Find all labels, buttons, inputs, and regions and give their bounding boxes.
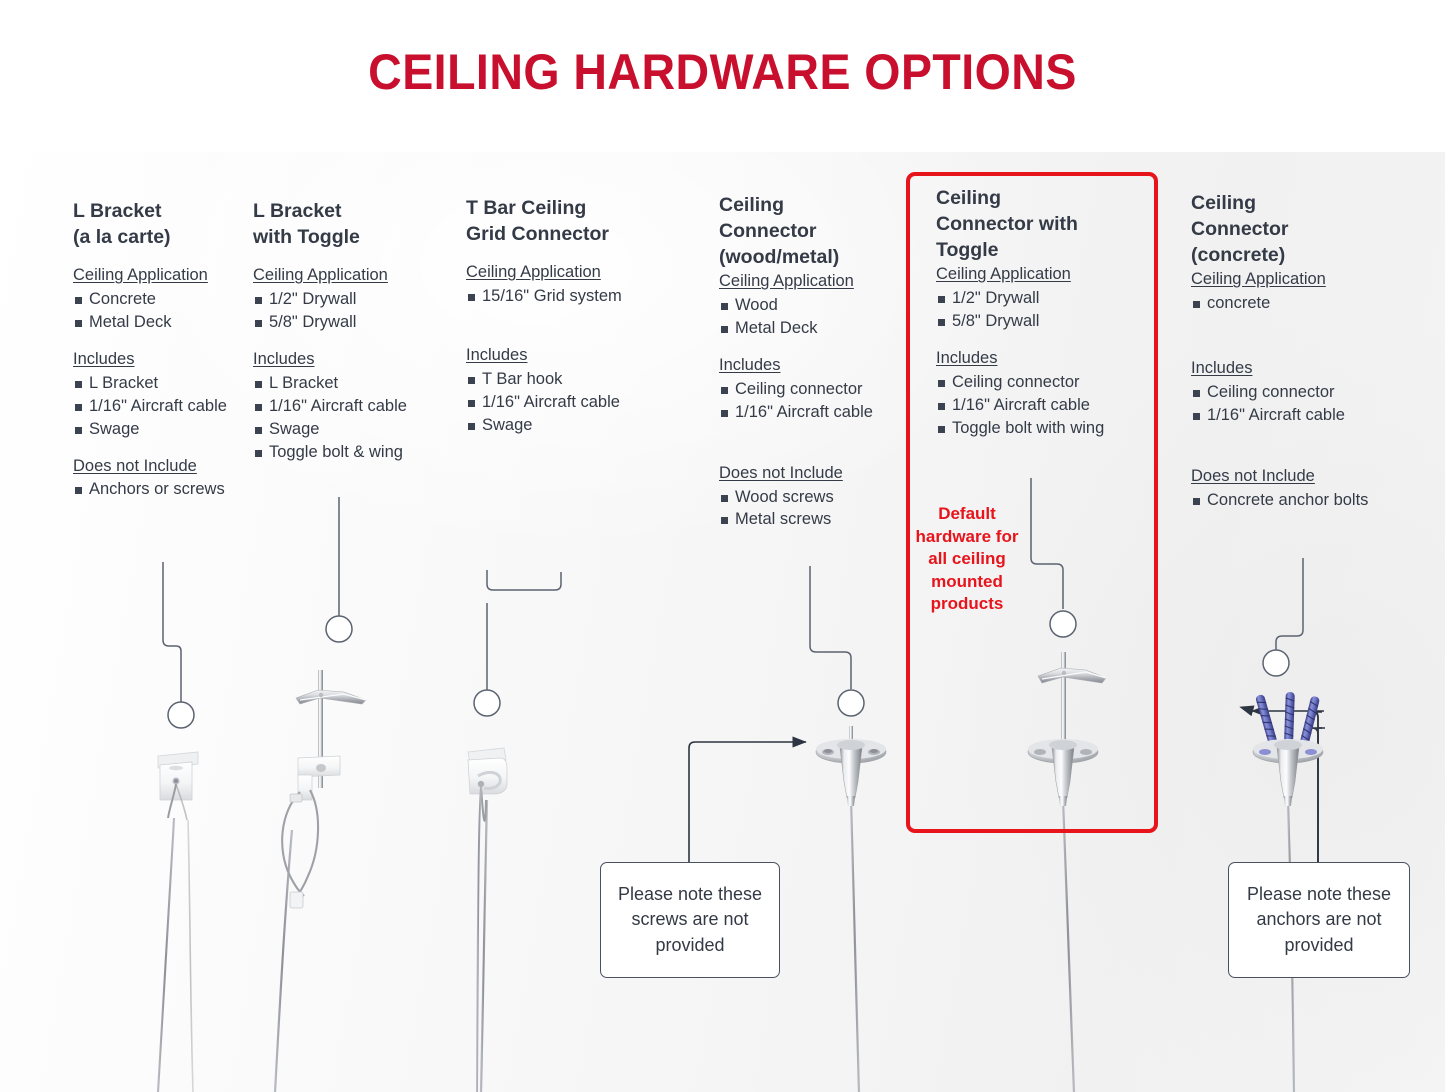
list-item: Toggle bolt & wing — [253, 442, 443, 464]
item-list: Ceiling connector 1/16" Aircraft cable — [1191, 382, 1381, 427]
ceiling-hardware-options-page: CEILING HARDWARE OPTIONS — [0, 0, 1445, 1092]
item-list: Concrete anchor bolts — [1191, 490, 1381, 512]
list-item: Concrete — [73, 289, 258, 311]
column-l-bracket-a-la-carte: L Bracket (a la carte) Ceiling Applicati… — [73, 198, 258, 502]
section-heading: Ceiling Application — [936, 265, 1126, 285]
list-item: Ceiling connector — [719, 379, 904, 401]
list-item: Toggle bolt with wing — [936, 418, 1126, 440]
column-title: L Bracket (a la carte) — [73, 198, 258, 250]
list-item: Metal Deck — [719, 318, 904, 340]
section-does-not-include: Does not Include Anchors or screws — [73, 457, 258, 502]
section-ceiling-application: Ceiling Application 1/2" Drywall 5/8" Dr… — [253, 266, 443, 334]
section-heading: Includes — [253, 350, 443, 370]
section-heading: Includes — [1191, 359, 1381, 379]
item-list: concrete — [1191, 293, 1381, 315]
list-item: Metal Deck — [73, 312, 258, 334]
section-heading: Does not Include — [73, 457, 258, 477]
list-item: 1/16" Aircraft cable — [936, 395, 1126, 417]
section-includes: Includes T Bar hook 1/16" Aircraft cable… — [466, 346, 666, 437]
section-heading: Ceiling Application — [253, 266, 443, 286]
list-item: 5/8" Drywall — [253, 312, 443, 334]
list-item: Swage — [466, 415, 666, 437]
section-heading: Includes — [936, 349, 1126, 369]
list-item: 1/16" Aircraft cable — [73, 396, 258, 418]
list-item: Swage — [73, 419, 258, 441]
section-does-not-include: Does not Include Concrete anchor bolts — [1191, 467, 1381, 512]
column-title: Ceiling Connector (wood/metal) — [719, 192, 904, 270]
list-item: L Bracket — [253, 373, 443, 395]
column-title: L Bracket with Toggle — [253, 198, 443, 250]
section-ceiling-application: Ceiling Application concrete — [1191, 270, 1381, 315]
section-includes: Includes L Bracket 1/16" Aircraft cable … — [73, 350, 258, 441]
section-heading: Does not Include — [719, 464, 904, 484]
list-item: 1/16" Aircraft cable — [466, 392, 666, 414]
default-hardware-note: Default hardware for all ceiling mounted… — [915, 503, 1019, 616]
section-heading: Includes — [719, 356, 904, 376]
section-ceiling-application: Ceiling Application 15/16" Grid system — [466, 263, 666, 308]
section-includes: Includes Ceiling connector 1/16" Aircraf… — [719, 356, 904, 424]
section-ceiling-application: Ceiling Application 1/2" Drywall 5/8" Dr… — [936, 265, 1126, 333]
list-item: concrete — [1191, 293, 1381, 315]
callout-anchors-note: Please note these anchors are not provid… — [1228, 862, 1410, 978]
list-item: Metal screws — [719, 509, 904, 531]
list-item: 1/16" Aircraft cable — [1191, 405, 1381, 427]
list-item: T Bar hook — [466, 369, 666, 391]
item-list: Anchors or screws — [73, 479, 258, 501]
section-heading: Includes — [466, 346, 666, 366]
section-does-not-include: Does not Include Wood screws Metal screw… — [719, 464, 904, 532]
section-includes: Includes Ceiling connector 1/16" Aircraf… — [936, 349, 1126, 440]
column-ceiling-connector-with-toggle: Ceiling Connector with Toggle Ceiling Ap… — [936, 185, 1126, 441]
page-title: CEILING HARDWARE OPTIONS — [51, 43, 1395, 101]
list-item: Ceiling connector — [936, 372, 1126, 394]
callout-screws-note: Please note these screws are not provide… — [600, 862, 780, 978]
item-list: Ceiling connector 1/16" Aircraft cable — [719, 379, 904, 424]
item-list: L Bracket 1/16" Aircraft cable Swage Tog… — [253, 373, 443, 464]
item-list: Concrete Metal Deck — [73, 289, 258, 334]
column-ceiling-connector-concrete: Ceiling Connector (concrete) Ceiling App… — [1191, 190, 1381, 513]
list-item: Ceiling connector — [1191, 382, 1381, 404]
item-list: Ceiling connector 1/16" Aircraft cable T… — [936, 372, 1126, 440]
section-heading: Ceiling Application — [719, 272, 904, 292]
item-list: L Bracket 1/16" Aircraft cable Swage — [73, 373, 258, 441]
item-list: T Bar hook 1/16" Aircraft cable Swage — [466, 369, 666, 437]
list-item: Wood — [719, 295, 904, 317]
list-item: Wood screws — [719, 487, 904, 509]
list-item: Concrete anchor bolts — [1191, 490, 1381, 512]
item-list: Wood Metal Deck — [719, 295, 904, 340]
section-heading: Includes — [73, 350, 258, 370]
section-heading: Ceiling Application — [73, 266, 258, 286]
section-ceiling-application: Ceiling Application Concrete Metal Deck — [73, 266, 258, 334]
list-item: 1/16" Aircraft cable — [253, 396, 443, 418]
column-title: Ceiling Connector (concrete) — [1191, 190, 1381, 268]
column-ceiling-connector-wood-metal: Ceiling Connector (wood/metal) Ceiling A… — [719, 192, 904, 532]
section-heading: Ceiling Application — [466, 263, 666, 283]
column-l-bracket-with-toggle: L Bracket with Toggle Ceiling Applicatio… — [253, 198, 443, 464]
section-includes: Includes Ceiling connector 1/16" Aircraf… — [1191, 359, 1381, 427]
list-item: L Bracket — [73, 373, 258, 395]
item-list: 15/16" Grid system — [466, 286, 666, 308]
column-title: Ceiling Connector with Toggle — [936, 185, 1126, 263]
section-heading: Ceiling Application — [1191, 270, 1381, 290]
list-item: 1/2" Drywall — [253, 289, 443, 311]
section-heading: Does not Include — [1191, 467, 1381, 487]
list-item: 1/16" Aircraft cable — [719, 402, 904, 424]
item-list: 1/2" Drywall 5/8" Drywall — [936, 288, 1126, 333]
list-item: 1/2" Drywall — [936, 288, 1126, 310]
section-includes: Includes L Bracket 1/16" Aircraft cable … — [253, 350, 443, 464]
list-item: Swage — [253, 419, 443, 441]
item-list: Wood screws Metal screws — [719, 487, 904, 532]
list-item: 5/8" Drywall — [936, 311, 1126, 333]
list-item: Anchors or screws — [73, 479, 258, 501]
section-ceiling-application: Ceiling Application Wood Metal Deck — [719, 272, 904, 340]
column-t-bar-ceiling-grid-connector: T Bar Ceiling Grid Connector Ceiling App… — [466, 195, 666, 438]
column-title: T Bar Ceiling Grid Connector — [466, 195, 666, 247]
list-item: 15/16" Grid system — [466, 286, 666, 308]
item-list: 1/2" Drywall 5/8" Drywall — [253, 289, 443, 334]
